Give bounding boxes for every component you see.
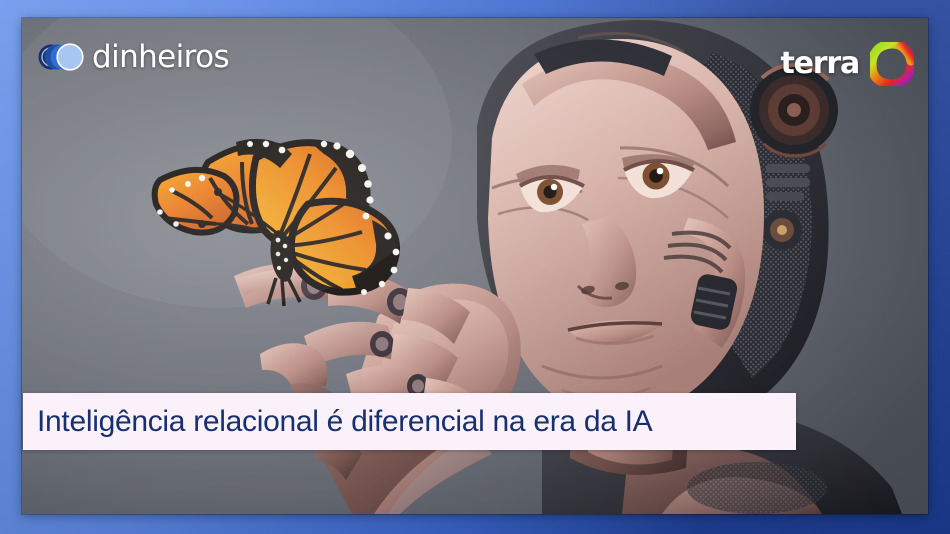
terra-ring-icon: [870, 42, 914, 86]
robot-face: [488, 33, 764, 416]
partner-logo-text: terra: [780, 49, 859, 79]
headline-title: Inteligência relacional é diferencial na…: [23, 407, 666, 437]
partner-logo-terra[interactable]: terra: [780, 42, 914, 86]
brand-logo-text: dinheiros: [92, 42, 229, 73]
headline-banner: Inteligência relacional é diferencial na…: [23, 393, 796, 450]
overlapping-circles-icon: [38, 38, 84, 76]
image-frame: dinheiros terra: [0, 0, 950, 534]
brand-logo-dinheiros[interactable]: dinheiros: [38, 38, 229, 76]
